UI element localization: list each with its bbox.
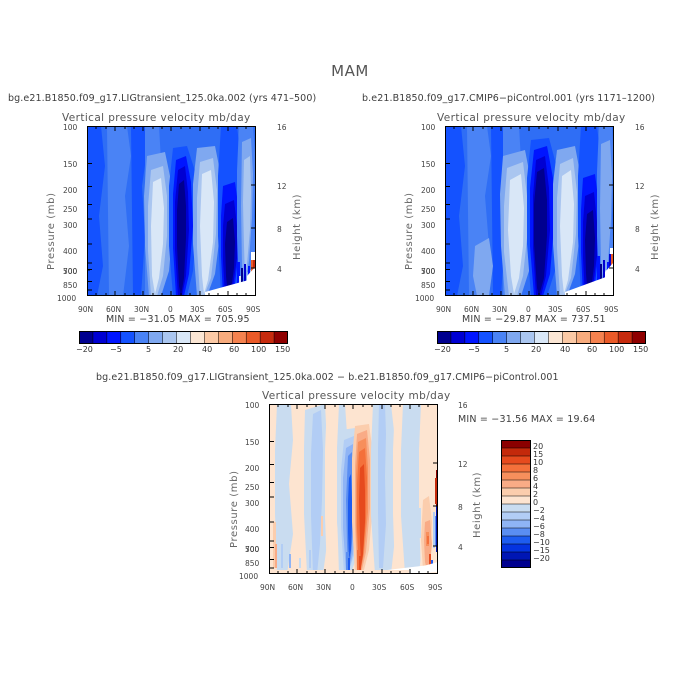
right-xtick-60S: 60S bbox=[576, 305, 590, 314]
diff-htick-12: 12 bbox=[458, 460, 468, 469]
left-panel-minmax: MIN = −31.05 MAX = 705.95 bbox=[106, 314, 250, 325]
colorbar-swatch bbox=[562, 331, 576, 344]
colorbar-swatch bbox=[501, 496, 531, 504]
cbl-right-6: 100 bbox=[609, 345, 624, 354]
diff-xtick-90N: 90N bbox=[260, 583, 275, 592]
colorbar-swatch bbox=[501, 456, 531, 464]
diff-panel-variable-label: Vertical pressure velocity mb/day bbox=[262, 390, 451, 402]
colorbar-swatch bbox=[501, 544, 531, 552]
colorbar-swatch bbox=[507, 331, 521, 344]
colorbar-swatch bbox=[590, 331, 604, 344]
diff-colorbar[interactable] bbox=[501, 440, 531, 568]
diff-ytick-700: 700 bbox=[245, 545, 259, 554]
colorbar-swatch bbox=[501, 520, 531, 528]
diff-ytick-850: 850 bbox=[245, 559, 259, 568]
cbl-right-7: 150 bbox=[633, 345, 648, 354]
left-xtick-30N: 30N bbox=[134, 305, 149, 314]
left-xtick-90N: 90N bbox=[78, 305, 93, 314]
diff-panel-minmax: MIN = −31.56 MAX = 19.64 bbox=[458, 414, 595, 425]
right-panel-ylabel-height: Height (km) bbox=[650, 194, 661, 260]
colorbar-swatch bbox=[121, 331, 135, 344]
left-ytick-850: 850 bbox=[63, 281, 77, 290]
diff-xtick-60N: 60N bbox=[288, 583, 303, 592]
diff-ytick-1000: 1000 bbox=[239, 572, 258, 581]
cbl-right-3: 20 bbox=[531, 345, 541, 354]
cbl-left-3: 20 bbox=[173, 345, 183, 354]
right-xtick-30N: 30N bbox=[492, 305, 507, 314]
colorbar-swatch bbox=[232, 331, 246, 344]
diff-ytick-200: 200 bbox=[245, 464, 259, 473]
right-ytick-150: 150 bbox=[421, 160, 435, 169]
left-htick-12: 12 bbox=[277, 182, 287, 191]
diff-htick-4: 4 bbox=[458, 543, 463, 552]
colorbar-swatch bbox=[521, 331, 535, 344]
right-ytick-300: 300 bbox=[421, 221, 435, 230]
colorbar-swatch bbox=[501, 448, 531, 456]
right-panel-minmax: MIN = −29.87 MAX = 737.51 bbox=[462, 314, 606, 325]
diff-xtick-30S: 30S bbox=[372, 583, 386, 592]
colorbar-swatch bbox=[501, 560, 531, 568]
colorbar-swatch bbox=[501, 536, 531, 544]
colorbar-swatch bbox=[465, 331, 479, 344]
right-panel-variable-label: Vertical pressure velocity mb/day bbox=[437, 112, 626, 124]
right-ytick-250: 250 bbox=[421, 205, 435, 214]
left-ytick-1000: 1000 bbox=[57, 294, 76, 303]
cbl-right-5: 60 bbox=[587, 345, 597, 354]
left-htick-8: 8 bbox=[277, 225, 282, 234]
right-xtick-90N: 90N bbox=[436, 305, 451, 314]
left-htick-4: 4 bbox=[277, 265, 282, 274]
left-xtick-60S: 60S bbox=[218, 305, 232, 314]
left-xtick-90S: 90S bbox=[246, 305, 260, 314]
cbl-left-2: 5 bbox=[146, 345, 151, 354]
colorbar-swatch bbox=[93, 331, 107, 344]
left-panel-ylabel-height: Height (km) bbox=[292, 194, 303, 260]
diff-ytick-150: 150 bbox=[245, 438, 259, 447]
colorbar-swatch bbox=[437, 331, 451, 344]
colorbar-swatch bbox=[177, 331, 191, 344]
diff-xtick-0: 0 bbox=[350, 583, 355, 592]
diff-panel-ylabel-pressure: Pressure (mb) bbox=[229, 470, 240, 548]
colorbar-swatch bbox=[190, 331, 204, 344]
right-panel-plot[interactable] bbox=[445, 126, 614, 296]
cbl-right-0: −20 bbox=[434, 345, 451, 354]
colorbar-swatch bbox=[501, 480, 531, 488]
colorbar-swatch bbox=[218, 331, 232, 344]
cbl-left-7: 150 bbox=[275, 345, 290, 354]
left-ytick-300: 300 bbox=[63, 221, 77, 230]
right-colorbar[interactable] bbox=[437, 331, 646, 344]
colorbar-swatch bbox=[501, 440, 531, 448]
colorbar-swatch bbox=[632, 331, 646, 344]
colorbar-swatch bbox=[501, 464, 531, 472]
colorbar-swatch bbox=[501, 472, 531, 480]
right-htick-12: 12 bbox=[635, 182, 645, 191]
diff-htick-16: 16 bbox=[458, 401, 468, 410]
right-xtick-90S: 90S bbox=[604, 305, 618, 314]
diff-ytick-400: 400 bbox=[245, 525, 259, 534]
diff-htick-8: 8 bbox=[458, 503, 463, 512]
diff-panel-plot[interactable] bbox=[269, 404, 438, 574]
left-xtick-0: 0 bbox=[168, 305, 173, 314]
right-xtick-0: 0 bbox=[526, 305, 531, 314]
right-xtick-30S: 30S bbox=[548, 305, 562, 314]
colorbar-swatch bbox=[501, 504, 531, 512]
colorbar-swatch bbox=[535, 331, 549, 344]
left-colorbar[interactable] bbox=[79, 331, 288, 344]
page-title: MAM bbox=[0, 62, 700, 80]
left-ytick-200: 200 bbox=[63, 186, 77, 195]
left-ytick-150: 150 bbox=[63, 160, 77, 169]
colorbar-swatch bbox=[79, 331, 93, 344]
colorbar-swatch bbox=[501, 512, 531, 520]
diff-ytick-300: 300 bbox=[245, 499, 259, 508]
diff-panel-ylabel-height: Height (km) bbox=[472, 472, 483, 538]
cbl-left-5: 60 bbox=[229, 345, 239, 354]
colorbar-swatch bbox=[246, 331, 260, 344]
colorbar-swatch bbox=[501, 528, 531, 536]
cbl-left-4: 40 bbox=[202, 345, 212, 354]
right-ytick-100: 100 bbox=[421, 123, 435, 132]
colorbar-swatch bbox=[493, 331, 507, 344]
right-htick-4: 4 bbox=[635, 265, 640, 274]
left-panel-ylabel-pressure: Pressure (mb) bbox=[46, 192, 57, 270]
left-ytick-400: 400 bbox=[63, 247, 77, 256]
colorbar-swatch bbox=[107, 331, 121, 344]
left-panel-case-header: bg.e21.B1850.f09_g17.LIGtransient_125.0k… bbox=[8, 93, 316, 104]
colorbar-swatch bbox=[604, 331, 618, 344]
left-ytick-250: 250 bbox=[63, 205, 77, 214]
cbl-left-6: 100 bbox=[251, 345, 266, 354]
right-xtick-60N: 60N bbox=[464, 305, 479, 314]
diff-xtick-90S: 90S bbox=[428, 583, 442, 592]
right-colorbar-labels: −20 −5 5 20 40 60 100 150 bbox=[437, 345, 646, 357]
cbl-left-0: −20 bbox=[76, 345, 93, 354]
right-ytick-400: 400 bbox=[421, 247, 435, 256]
left-xtick-30S: 30S bbox=[190, 305, 204, 314]
left-panel-variable-label: Vertical pressure velocity mb/day bbox=[62, 112, 251, 124]
right-ytick-850: 850 bbox=[421, 281, 435, 290]
colorbar-swatch bbox=[618, 331, 632, 344]
colorbar-swatch bbox=[149, 331, 163, 344]
colorbar-swatch bbox=[479, 331, 493, 344]
right-panel-case-header: b.e21.B1850.f09_g17.CMIP6−piControl.001 … bbox=[362, 93, 655, 104]
left-xtick-60N: 60N bbox=[106, 305, 121, 314]
diff-ytick-100: 100 bbox=[245, 401, 259, 410]
colorbar-swatch bbox=[163, 331, 177, 344]
diff-ytick-250: 250 bbox=[245, 483, 259, 492]
left-ytick-700: 700 bbox=[63, 267, 77, 276]
colorbar-swatch bbox=[501, 488, 531, 496]
colorbar-swatch bbox=[260, 331, 274, 344]
cbl-right-2: 5 bbox=[504, 345, 509, 354]
left-panel-plot[interactable] bbox=[87, 126, 256, 296]
colorbar-swatch bbox=[548, 331, 562, 344]
diff-xtick-30N: 30N bbox=[316, 583, 331, 592]
diff-panel-case-header: bg.e21.B1850.f09_g17.LIGtransient_125.0k… bbox=[96, 372, 559, 383]
cbl-diff-14: −20 bbox=[533, 554, 550, 563]
right-htick-8: 8 bbox=[635, 225, 640, 234]
colorbar-swatch bbox=[501, 552, 531, 560]
colorbar-swatch bbox=[274, 331, 288, 344]
right-ytick-700: 700 bbox=[421, 267, 435, 276]
left-colorbar-labels: −20 −5 5 20 40 60 100 150 bbox=[79, 345, 288, 357]
right-ytick-1000: 1000 bbox=[415, 294, 434, 303]
right-htick-16: 16 bbox=[635, 123, 645, 132]
right-ytick-200: 200 bbox=[421, 186, 435, 195]
diff-colorbar-labels: 20 15 10 8 6 4 2 0 −2 −4 −6 −8 −10 −15 −… bbox=[533, 440, 573, 568]
left-ytick-100: 100 bbox=[63, 123, 77, 132]
cbl-right-4: 40 bbox=[560, 345, 570, 354]
cbl-right-1: −5 bbox=[468, 345, 480, 354]
colorbar-swatch bbox=[576, 331, 590, 344]
left-htick-16: 16 bbox=[277, 123, 287, 132]
right-panel-ylabel-pressure: Pressure (mb) bbox=[404, 192, 415, 270]
cbl-left-1: −5 bbox=[110, 345, 122, 354]
colorbar-swatch bbox=[135, 331, 149, 344]
diff-xtick-60S: 60S bbox=[400, 583, 414, 592]
colorbar-swatch bbox=[451, 331, 465, 344]
colorbar-swatch bbox=[204, 331, 218, 344]
